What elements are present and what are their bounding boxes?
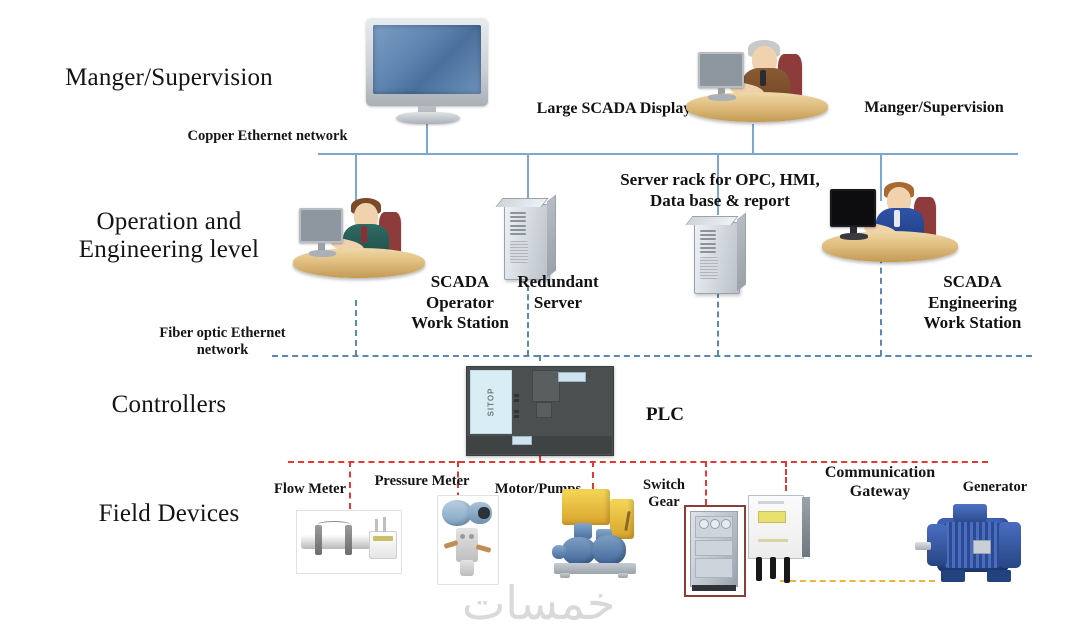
field-device-label-flow-meter: Flow Meter (255, 481, 365, 498)
engineer-at-desk-icon (822, 175, 958, 271)
server-side-face (547, 194, 556, 277)
pump-suction-flange (552, 545, 566, 559)
plc-terminal-dots-left (514, 394, 519, 404)
server-rack-vent (700, 257, 718, 279)
scada-architecture-diagram: Manger/Supervision Operation and Enginee… (0, 0, 1071, 627)
field-device-label-comm-gateway: Communication Gateway (800, 463, 960, 501)
copper-drop-large-display (426, 122, 428, 154)
operator-monitor-foot (309, 250, 336, 257)
plc-base-connector (512, 436, 532, 445)
plc-terminal-dots-left-2 (514, 410, 519, 420)
flow-sensor-cable (317, 521, 351, 529)
engineering-workstation-label: SCADA Engineering Work Station (890, 272, 1055, 334)
manager-desk-label: Manger/Supervision (834, 98, 1034, 118)
switchgear-breaker-panel (695, 558, 733, 578)
generator-foot-right (987, 570, 1011, 582)
gateway-side-panel (802, 497, 810, 557)
copper-drop-manager-desk (752, 124, 754, 154)
level-label-operation-line2: Engineering level (34, 236, 304, 264)
pressure-process-connection (460, 560, 474, 576)
manifold-bolt-2 (469, 534, 474, 539)
fieldbus-drop-comm-gateway (785, 461, 787, 491)
switchgear-plinth (692, 585, 736, 591)
gateway-cable-2 (770, 557, 776, 579)
field-device-label-pressure-meter: Pressure Meter (352, 473, 492, 490)
display-base (396, 112, 460, 124)
watermark-text: خمسات (462, 576, 615, 630)
redundant-server-body (504, 204, 550, 280)
manifold-bolt-1 (460, 534, 465, 539)
engineer-monitor-foot (840, 233, 868, 240)
operator-tie (361, 226, 367, 243)
plc-display-strip (558, 372, 586, 382)
server-rack-top-face (685, 216, 738, 225)
server-rack-body (694, 222, 740, 294)
switchgear-cabinet-icon (684, 505, 746, 597)
manager-monitor (698, 52, 744, 88)
generator-non-drive-end-bell (999, 522, 1021, 568)
fiber-label-line2: network (135, 342, 310, 359)
gateway-cable-3 (784, 557, 790, 583)
manager-tie (760, 70, 766, 86)
plc-label: PLC (646, 404, 684, 426)
manager-monitor-foot (708, 94, 736, 101)
gateway-enclosure (748, 495, 804, 559)
server-rack-line1: Server rack for OPC, HMI, (600, 170, 840, 191)
engineering-ws-line1: SCADA (890, 272, 1055, 293)
pressure-manifold (456, 528, 478, 562)
fiber-optic-bus (272, 355, 1032, 357)
pump-volute-1 (562, 537, 596, 565)
switchgear-gauge-3 (721, 519, 731, 529)
flow-sensor-clamp-1 (315, 525, 322, 555)
generator-terminal-box (953, 504, 987, 522)
pressure-transmitter-port (478, 507, 490, 519)
generator-motor-icon (915, 500, 1041, 592)
server-drive-bays (510, 212, 526, 237)
motor-pump-icon (552, 489, 664, 583)
generator-shaft (915, 542, 931, 550)
level-label-operation-line1: Operation and (34, 208, 304, 236)
pump-foot-right (618, 573, 628, 578)
plc-rack-icon: SITOP (466, 366, 612, 454)
copper-drop-redundant-server (527, 153, 529, 198)
plc-cpu-module (532, 370, 560, 402)
redundant-server-label: Redundant Server (488, 272, 628, 313)
flat-panel-display-icon (366, 18, 488, 106)
pump-volute-2 (592, 535, 626, 565)
comm-gateway-line1: Communication (800, 463, 960, 482)
generator-nameplate (973, 540, 991, 554)
fieldbus-drop-switch-gear (705, 461, 707, 505)
large-scada-display (366, 18, 488, 122)
operator-monitor (299, 208, 343, 243)
fiber-drop-server-rack (717, 292, 719, 356)
engineering-ws-line2: Engineering (890, 293, 1055, 314)
sitop-power-supply: SITOP (470, 370, 512, 434)
server-rack-label: Server rack for OPC, HMI, Data base & re… (600, 170, 840, 211)
engineer-monitor (830, 189, 876, 227)
switchgear-gauge-2 (710, 519, 720, 529)
flow-transmitter-box (369, 531, 397, 559)
network-label-copper-ethernet: Copper Ethernet network (170, 128, 365, 145)
flow-meter-icon (296, 510, 402, 574)
pressure-transmitter-icon (437, 495, 499, 585)
server-vent (510, 241, 528, 263)
gateway-warning-label (758, 539, 788, 542)
fiber-label-line1: Fiber optic Ethernet (135, 325, 310, 342)
level-label-operation: Operation and Engineering level (34, 208, 304, 264)
operator-ws-line3: Work Station (375, 313, 545, 334)
motor-housing-large (562, 489, 610, 525)
gateway-display (758, 511, 786, 523)
flow-antenna-1 (375, 519, 378, 532)
switchgear-gauge-1 (699, 519, 709, 529)
redundant-server-line2: Server (488, 293, 628, 314)
flow-transmitter-display (373, 536, 393, 541)
communication-gateway-icon (748, 495, 818, 587)
flow-meter-pipe (301, 535, 375, 549)
field-device-label-generator: Generator (940, 479, 1050, 496)
generator-foot-left (941, 570, 965, 582)
redundant-server-line1: Redundant (488, 272, 628, 293)
sitop-label: SITOP (487, 388, 496, 417)
level-label-field-devices: Field Devices (34, 500, 304, 528)
flow-antenna-2 (383, 517, 386, 532)
server-tower-icon-rack (688, 215, 746, 295)
gateway-cable-1 (756, 557, 762, 581)
gateway-brand-strip (758, 501, 784, 504)
switchgear-control-panel (695, 540, 733, 556)
display-screen (373, 25, 481, 94)
manager-at-desk-icon (686, 18, 828, 126)
server-rack-line2: Data base & report (600, 191, 840, 212)
server-rack-side-face (737, 212, 746, 291)
level-label-manager: Manger/Supervision (34, 64, 304, 92)
comm-gateway-line2: Gateway (800, 482, 960, 501)
plc-base-rail (466, 436, 612, 454)
level-label-controllers: Controllers (34, 391, 304, 419)
server-top-face (495, 198, 548, 207)
fiber-drop-operator-ws (355, 300, 357, 356)
generator-cooling-fins (943, 522, 1001, 568)
plc-io-module (536, 402, 552, 418)
large-scada-display-label: Large SCADA Display (514, 99, 714, 119)
engineer-shirt (894, 210, 900, 227)
engineering-ws-line3: Work Station (890, 313, 1055, 334)
flow-sensor-clamp-2 (345, 525, 352, 555)
copper-ethernet-bus (318, 153, 1018, 155)
server-rack-drive-bays (700, 230, 716, 255)
motor-housing-small (610, 499, 634, 539)
